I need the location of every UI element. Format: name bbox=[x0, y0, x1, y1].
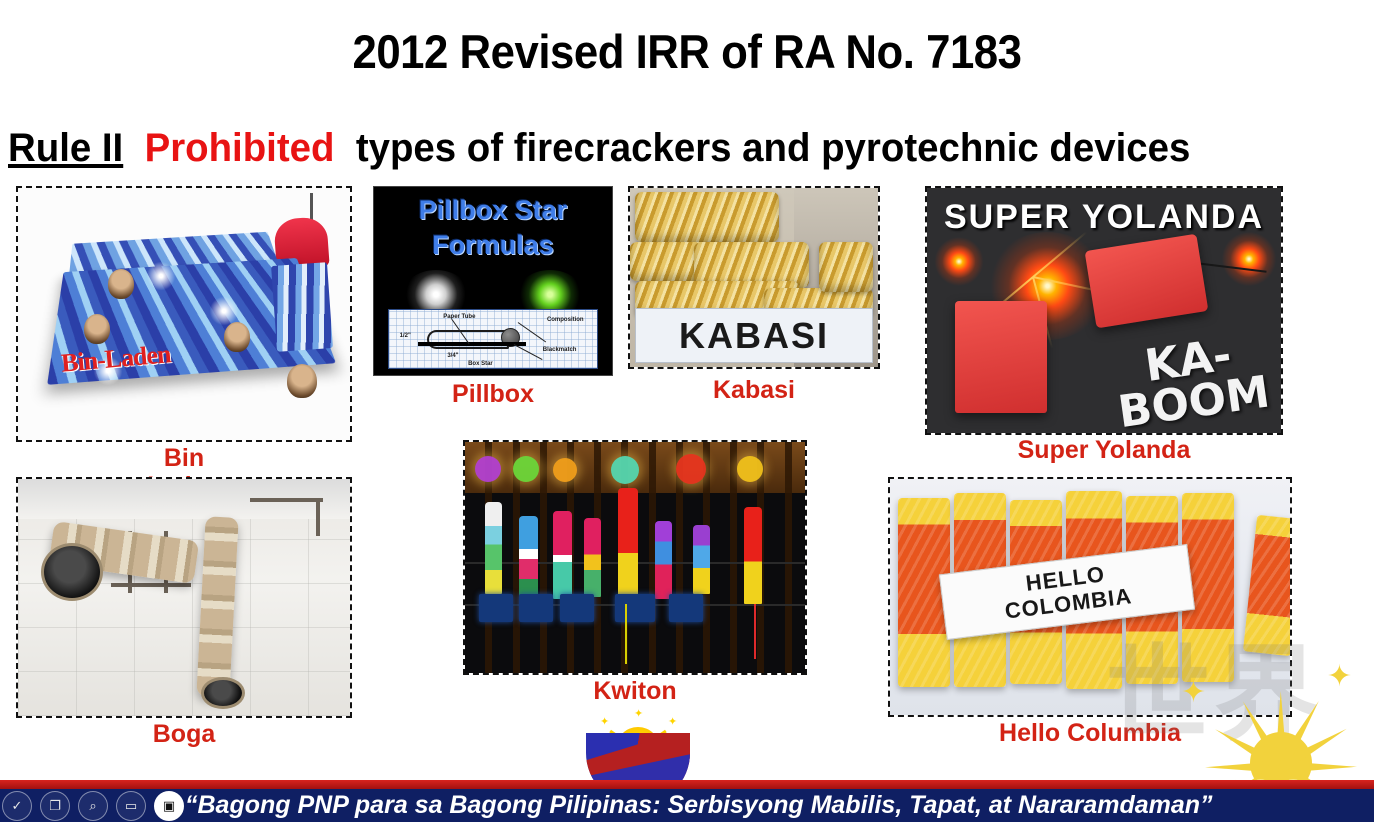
apps-grid-icon[interactable]: ❐ bbox=[40, 791, 70, 821]
prohibited-label: Prohibited bbox=[145, 126, 335, 170]
rule-label: Rule II bbox=[8, 126, 123, 170]
kwiton-lantern bbox=[737, 456, 763, 482]
pillbox-title-line1: Pillbox Star bbox=[374, 195, 612, 226]
photo-kwiton bbox=[465, 442, 805, 673]
cracker-right bbox=[1084, 234, 1208, 329]
kwiton-lantern bbox=[676, 454, 706, 484]
logo-star-icon: ✦ bbox=[634, 707, 643, 720]
kabasi-sign-text: KABASI bbox=[679, 315, 829, 357]
kwiton-slat bbox=[730, 442, 737, 673]
diagram-label-blackmatch: Blackmatch bbox=[543, 347, 577, 353]
figure-frame: SUPER YOLANDA KA- BOOM bbox=[925, 186, 1283, 435]
yolanda-title-text: SUPER YOLANDA bbox=[927, 198, 1281, 237]
figure-caption-kabasi: Kabasi bbox=[628, 376, 880, 404]
bl-face bbox=[287, 364, 317, 398]
check-icon[interactable]: ✓ bbox=[2, 791, 32, 821]
photo-pillbox: Pillbox Star Formulas Paper Tube Composi… bbox=[374, 187, 612, 375]
kabasi-sign: KABASI bbox=[635, 308, 873, 364]
watermark-star-icon: ✦ bbox=[1327, 659, 1352, 694]
watermark-sun-ray bbox=[1205, 761, 1281, 773]
kwiton-rocket bbox=[744, 507, 763, 604]
subtitle-rest: types of firecrackers and pyrotechnic de… bbox=[356, 126, 1191, 170]
bar-slogan-text: “Bagong PNP para sa Bagong Pilipinas: Se… bbox=[185, 789, 1213, 822]
kwiton-rocket bbox=[584, 518, 601, 597]
kwiton-rocket bbox=[693, 525, 710, 594]
leader-line bbox=[513, 344, 542, 360]
boga-stand bbox=[250, 498, 323, 502]
diagram-dim-label: 3/4" bbox=[447, 353, 458, 359]
hc-pack bbox=[1243, 515, 1290, 656]
kabasi-bundle bbox=[635, 192, 779, 242]
diagram-dim-label: 1/2" bbox=[400, 333, 411, 339]
figure-kabasi: KABASI Kabasi bbox=[628, 186, 880, 369]
bl-star bbox=[144, 259, 178, 293]
bl-tube bbox=[271, 262, 333, 351]
cracker-left bbox=[955, 301, 1047, 414]
figure-caption-pillbox: Pillbox bbox=[373, 380, 613, 408]
kwiton-slat bbox=[540, 442, 547, 673]
photo-kabasi: KABASI bbox=[630, 188, 878, 367]
yolanda-graffiti-text: KA- BOOM bbox=[1110, 329, 1272, 433]
figure-caption-boga: Boga bbox=[16, 720, 352, 748]
spark-burst-small bbox=[934, 237, 984, 286]
hc-sign-line2: COLOMBIA bbox=[1004, 584, 1134, 624]
photo-hello-columbia: HELLO COLOMBIA bbox=[890, 479, 1290, 715]
kwiton-base bbox=[479, 594, 513, 622]
kwiton-fuse bbox=[754, 604, 756, 659]
diagram-blackmatch-bar bbox=[418, 342, 526, 346]
watermark-sun-ray bbox=[1281, 761, 1357, 773]
kwiton-slat bbox=[785, 442, 792, 673]
kwiton-fuse bbox=[625, 604, 627, 664]
figure-frame: KABASI bbox=[628, 186, 880, 369]
boga-cannon-mouth-small bbox=[201, 677, 245, 709]
diagram-tube bbox=[427, 330, 510, 349]
figure-super-yolanda: SUPER YOLANDA KA- BOOM Super Yolanda bbox=[925, 186, 1283, 435]
kwiton-rocket bbox=[485, 502, 502, 594]
figure-caption-hello-columbia: Hello Columbia bbox=[888, 719, 1292, 747]
diagram-label-paper-tube: Paper Tube bbox=[443, 314, 475, 320]
kabasi-bundle bbox=[819, 242, 874, 292]
kwiton-base bbox=[560, 594, 594, 622]
search-icon[interactable]: ⌕ bbox=[78, 791, 108, 821]
bl-face bbox=[108, 269, 134, 299]
figure-caption-super-yolanda: Super Yolanda bbox=[925, 436, 1283, 464]
pillbox-diagram: Paper Tube Composition Blackmatch Box St… bbox=[388, 309, 597, 369]
photo-bin-laden: Bin-Laden bbox=[18, 188, 350, 440]
figure-caption-kwiton: Kwiton bbox=[463, 677, 807, 705]
kwiton-rocket bbox=[553, 511, 572, 599]
kwiton-base bbox=[669, 594, 703, 622]
kwiton-rocket bbox=[655, 521, 672, 600]
figure-bin-laden: Bin-Laden Bin Laden bbox=[16, 186, 352, 442]
figure-hello-columbia: HELLO COLOMBIA Hello Columbia bbox=[888, 477, 1292, 717]
kwiton-base bbox=[615, 594, 656, 622]
figure-frame: HELLO COLOMBIA bbox=[888, 477, 1292, 717]
boga-cannon-mouth bbox=[41, 543, 103, 601]
bar-red-stripe bbox=[0, 780, 1374, 789]
figure-pillbox: Pillbox Star Formulas Paper Tube Composi… bbox=[373, 186, 613, 376]
figure-frame bbox=[463, 440, 807, 675]
photo-boga bbox=[18, 479, 350, 716]
boga-stand bbox=[316, 498, 320, 536]
leader-line bbox=[518, 322, 546, 342]
kwiton-rocket bbox=[618, 488, 638, 604]
kwiton-lantern bbox=[513, 456, 539, 482]
spark-burst-small bbox=[1221, 232, 1278, 286]
bl-face bbox=[84, 314, 110, 344]
subtitle-line: Rule II Prohibited types of firecrackers… bbox=[8, 126, 1314, 171]
page-title: 2012 Revised IRR of RA No. 7183 bbox=[48, 24, 1326, 79]
logo-star-icon: ✦ bbox=[668, 715, 677, 728]
figure-frame bbox=[16, 477, 352, 718]
toolbar-icons: ✓ ❐ ⌕ ▭ ▣ bbox=[0, 789, 184, 822]
slide-canvas: 2012 Revised IRR of RA No. 7183 Rule II … bbox=[0, 0, 1374, 822]
figure-frame: Pillbox Star Formulas Paper Tube Composi… bbox=[373, 186, 613, 376]
diagram-label-composition: Composition bbox=[547, 317, 584, 323]
kwiton-lantern bbox=[475, 456, 501, 482]
boga-stand bbox=[111, 583, 191, 587]
kwiton-base bbox=[519, 594, 553, 622]
photo-super-yolanda: SUPER YOLANDA KA- BOOM bbox=[927, 188, 1281, 433]
kwiton-lantern bbox=[611, 456, 639, 484]
kwiton-rocket bbox=[519, 516, 538, 599]
bl-star bbox=[207, 294, 241, 328]
present-screen-icon[interactable]: ▭ bbox=[116, 791, 146, 821]
pillbox-title-line2: Formulas bbox=[374, 230, 612, 261]
logo-star-icon: ✦ bbox=[600, 715, 609, 728]
diagram-label-box-star: Box Star bbox=[468, 361, 493, 367]
bottom-status-bar: ✓ ❐ ⌕ ▭ ▣ “Bagong PNP para sa Bagong Pil… bbox=[0, 780, 1374, 822]
video-camera-icon[interactable]: ▣ bbox=[154, 791, 184, 821]
figure-frame: Bin-Laden bbox=[16, 186, 352, 442]
figure-boga: Boga bbox=[16, 477, 352, 718]
figure-kwiton: Kwiton bbox=[463, 440, 807, 675]
